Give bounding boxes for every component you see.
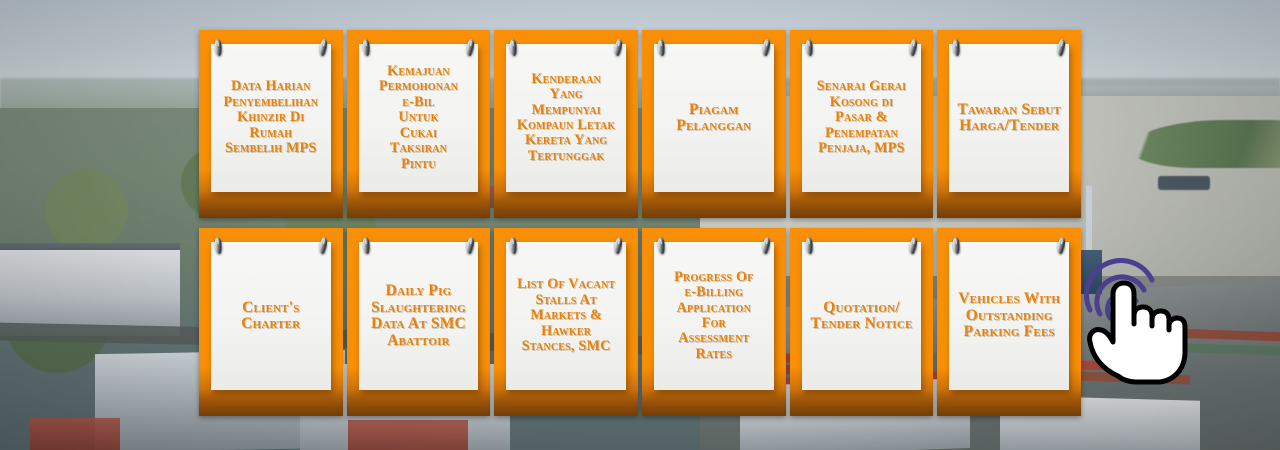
- paper-clip-pin-icon: [509, 39, 518, 57]
- paper-clip-pin-icon: [614, 237, 623, 255]
- tile-label: Client's Charter: [235, 300, 306, 333]
- tile-label: Daily Pig Slaughtering Data At SMC Abatt…: [365, 283, 472, 349]
- paper-clip-pin-icon: [466, 237, 475, 255]
- paper-clip-pin-icon: [952, 39, 961, 57]
- tile-label: Kenderaan Yang Mempunyai Kompaun Letak K…: [511, 72, 622, 164]
- tile-label: Tawaran Sebut Harga/Tender: [951, 102, 1067, 135]
- tile-data-harian-penyembelihan[interactable]: Data Harian Penyembelihan Khinzir Di Rum…: [199, 30, 343, 218]
- tile-label: Progress Of e-Billing Application For As…: [668, 270, 759, 362]
- tile-card[interactable]: Senarai Gerai Kosong di Pasar & Penempat…: [802, 44, 922, 192]
- tile-label: List Of Vacant Stalls At Markets & Hawke…: [511, 277, 621, 354]
- tile-card[interactable]: Piagam Pelanggan: [654, 44, 774, 192]
- tile-daily-pig-slaughtering-data[interactable]: Daily Pig Slaughtering Data At SMC Abatt…: [347, 228, 491, 416]
- paper-clip-pin-icon: [909, 39, 918, 57]
- paper-clip-pin-icon: [1057, 237, 1066, 255]
- tile-label: Kemajuan Permohonan e-Bil Untuk Cukai Ta…: [373, 64, 464, 172]
- tile-kenderaan-kompaun-letak-kereta[interactable]: Kenderaan Yang Mempunyai Kompaun Letak K…: [494, 30, 638, 218]
- paper-clip-pin-icon: [214, 237, 223, 255]
- tile-tawaran-sebut-harga-tender[interactable]: Tawaran Sebut Harga/Tender: [937, 30, 1081, 218]
- tile-card[interactable]: Kenderaan Yang Mempunyai Kompaun Letak K…: [506, 44, 626, 192]
- tile-senarai-gerai-kosong[interactable]: Senarai Gerai Kosong di Pasar & Penempat…: [790, 30, 934, 218]
- tile-piagam-pelanggan[interactable]: Piagam Pelanggan: [642, 30, 786, 218]
- service-tile-grid: Data Harian Penyembelihan Khinzir Di Rum…: [199, 30, 1081, 420]
- tile-card[interactable]: List Of Vacant Stalls At Markets & Hawke…: [506, 242, 626, 390]
- tile-card[interactable]: Quotation/ Tender Notice: [802, 242, 922, 390]
- tile-progress-of-ebilling-application[interactable]: Progress Of e-Billing Application For As…: [642, 228, 786, 416]
- paper-clip-pin-icon: [805, 237, 814, 255]
- paper-clip-pin-icon: [214, 39, 223, 57]
- tile-list-of-vacant-stalls[interactable]: List Of Vacant Stalls At Markets & Hawke…: [494, 228, 638, 416]
- paper-clip-pin-icon: [362, 39, 371, 57]
- tile-card[interactable]: Client's Charter: [211, 242, 331, 390]
- tile-card[interactable]: Kemajuan Permohonan e-Bil Untuk Cukai Ta…: [359, 44, 479, 192]
- tile-card[interactable]: Data Harian Penyembelihan Khinzir Di Rum…: [211, 44, 331, 192]
- paper-clip-pin-icon: [657, 237, 666, 255]
- paper-clip-pin-icon: [362, 237, 371, 255]
- paper-clip-pin-icon: [614, 39, 623, 57]
- tile-row-malay: Data Harian Penyembelihan Khinzir Di Rum…: [199, 30, 1081, 218]
- screenshot-root: Data Harian Penyembelihan Khinzir Di Rum…: [0, 0, 1280, 450]
- paper-clip-pin-icon: [952, 237, 961, 255]
- tile-card[interactable]: Daily Pig Slaughtering Data At SMC Abatt…: [359, 242, 479, 390]
- paper-clip-pin-icon: [805, 39, 814, 57]
- tile-vehicles-with-outstanding-parking-fees[interactable]: Vehicles With Outstanding Parking Fees: [937, 228, 1081, 416]
- tile-card[interactable]: Vehicles With Outstanding Parking Fees: [949, 242, 1069, 390]
- paper-clip-pin-icon: [909, 237, 918, 255]
- paper-clip-pin-icon: [466, 39, 475, 57]
- tile-card[interactable]: Tawaran Sebut Harga/Tender: [949, 44, 1069, 192]
- tile-clients-charter[interactable]: Client's Charter: [199, 228, 343, 416]
- paper-clip-pin-icon: [319, 237, 328, 255]
- paper-clip-pin-icon: [509, 237, 518, 255]
- tile-row-english: Client's CharterDaily Pig Slaughtering D…: [199, 228, 1081, 416]
- paper-clip-pin-icon: [319, 39, 328, 57]
- tile-label: Vehicles With Outstanding Parking Fees: [952, 291, 1066, 341]
- tile-card[interactable]: Progress Of e-Billing Application For As…: [654, 242, 774, 390]
- tile-kemajuan-permohonan-ebil[interactable]: Kemajuan Permohonan e-Bil Untuk Cukai Ta…: [347, 30, 491, 218]
- tile-quotation-tender-notice[interactable]: Quotation/ Tender Notice: [790, 228, 934, 416]
- tile-label: Data Harian Penyembelihan Khinzir Di Rum…: [218, 79, 325, 156]
- paper-clip-pin-icon: [762, 237, 771, 255]
- paper-clip-pin-icon: [657, 39, 666, 57]
- paper-clip-pin-icon: [762, 39, 771, 57]
- paper-clip-pin-icon: [1057, 39, 1066, 57]
- tile-label: Piagam Pelanggan: [670, 102, 757, 135]
- tile-label: Senarai Gerai Kosong di Pasar & Penempat…: [811, 79, 913, 156]
- tile-label: Quotation/ Tender Notice: [805, 300, 919, 333]
